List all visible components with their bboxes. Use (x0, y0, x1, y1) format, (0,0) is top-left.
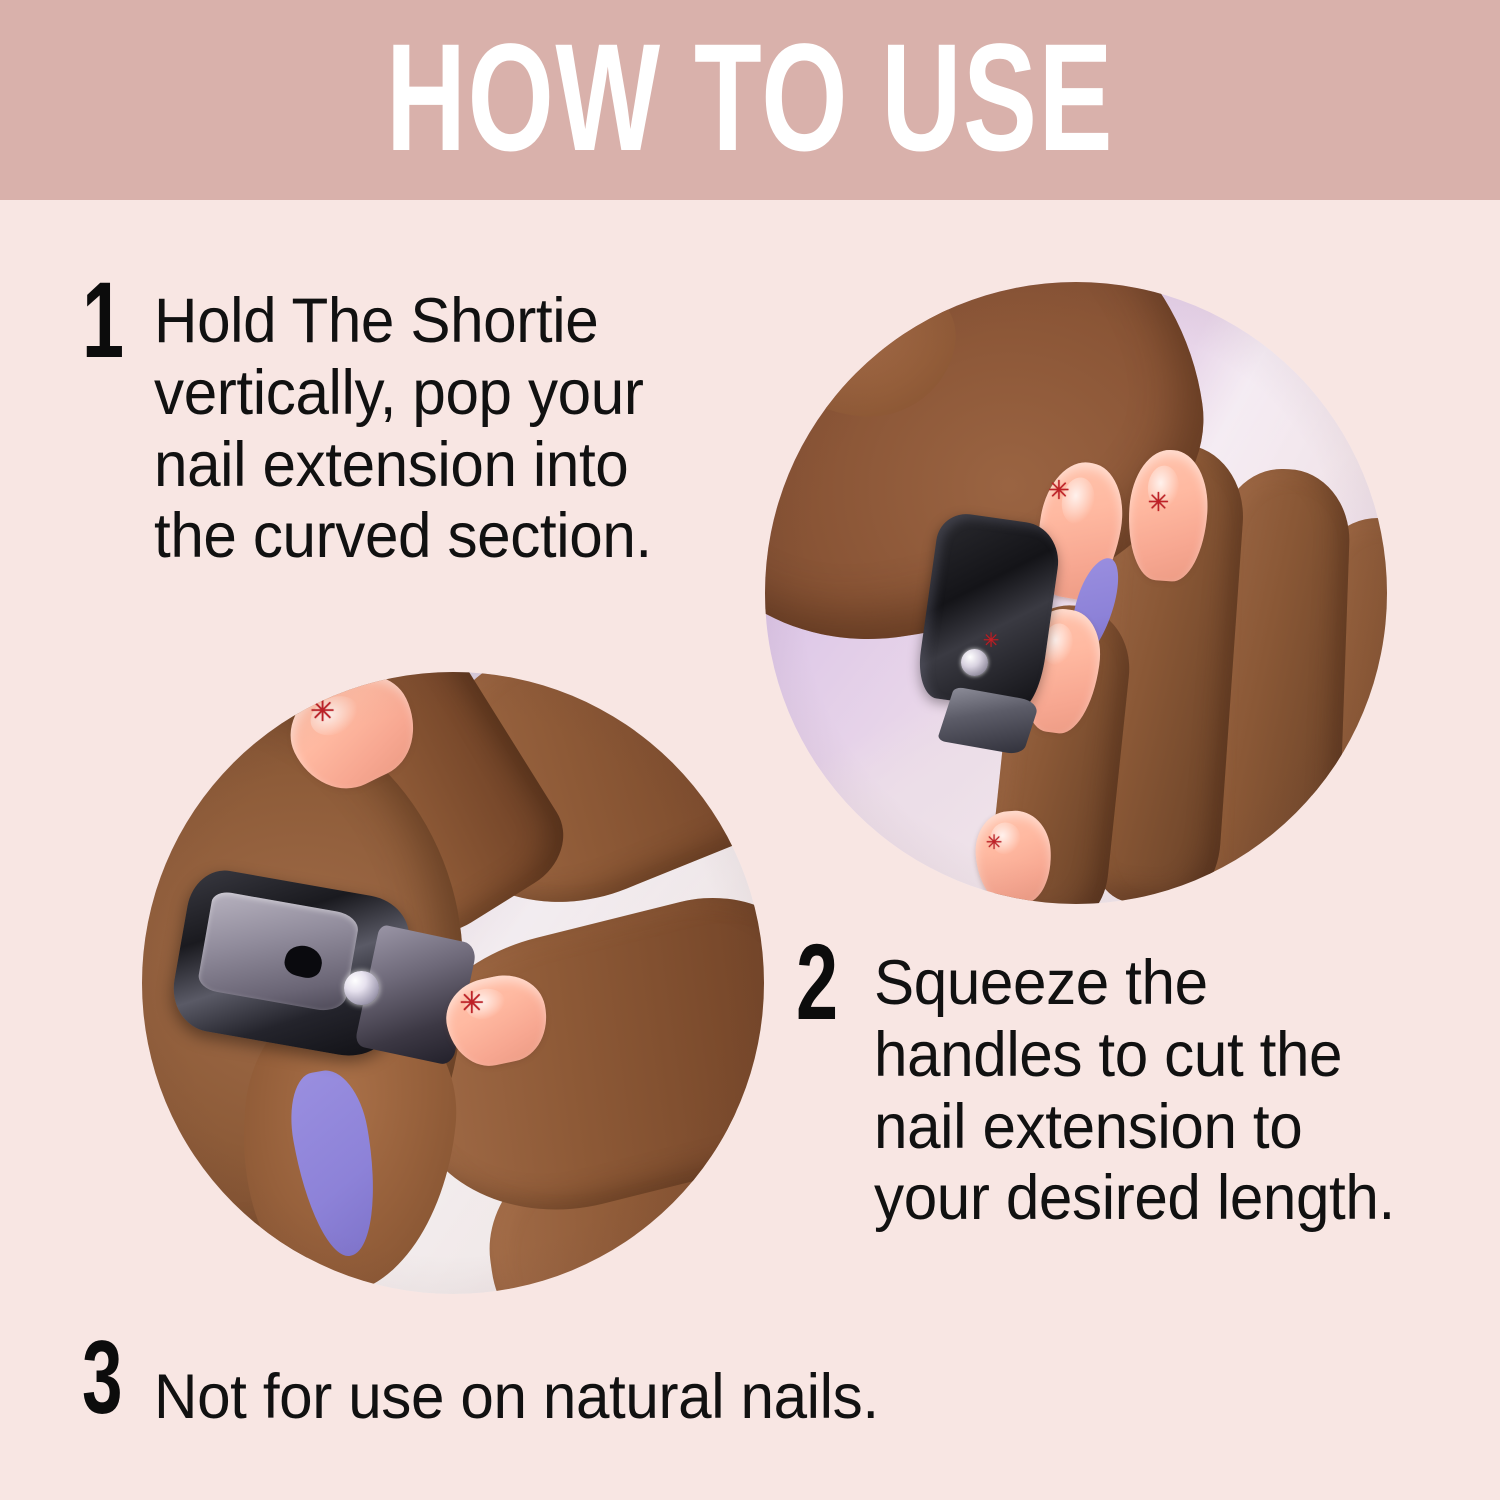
hand-thumb-tip (765, 282, 962, 426)
step-2: 2 Squeeze the handles to cut the nail ex… (796, 938, 1456, 1235)
photo-step-1-hold-shortie: ✳ ✳ ✳ ✳ (765, 282, 1387, 904)
step-3-text: Not for use on natural nails. (154, 1362, 879, 1434)
step-3-number: 3 (82, 1336, 123, 1421)
nail-flower-decal-icon: ✳ (1148, 490, 1170, 516)
step-1-number: 1 (82, 276, 124, 365)
step-1-text: Hold The Shortie vertically, pop your na… (154, 286, 716, 573)
step-3: 3 Not for use on natural nails. (82, 1336, 1082, 1434)
nail-flower-decal-icon: ✳ (983, 630, 1000, 650)
step-2-text: Squeeze the handles to cut the nail exte… (874, 948, 1430, 1235)
header-band: HOW TO USE (0, 0, 1500, 200)
nail-flower-decal-icon: ✳ (986, 832, 1003, 852)
page-title: HOW TO USE (386, 37, 1114, 162)
rhinestone-gem-icon (344, 971, 379, 1006)
step-2-number: 2 (796, 938, 838, 1027)
nail-flower-decal-icon: ✳ (1048, 478, 1070, 504)
step-1: 1 Hold The Shortie vertically, pop your … (82, 276, 742, 573)
photo-step-2-squeeze-handles: ✳ ✳ (142, 672, 764, 1294)
nail-flower-decal-icon: ✳ (459, 989, 484, 1019)
nail-flower-decal-icon: ✳ (310, 697, 335, 727)
